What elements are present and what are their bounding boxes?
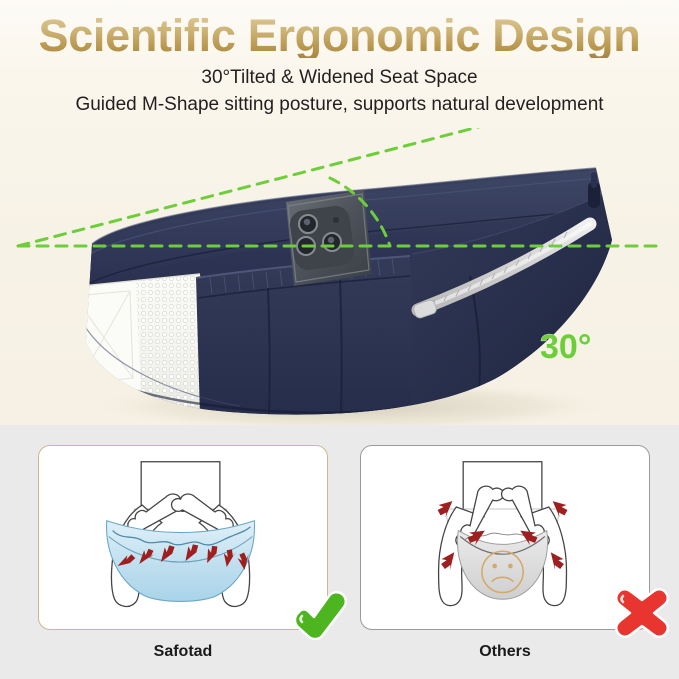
check-icon xyxy=(288,585,350,643)
phone-camera-module xyxy=(288,204,356,272)
angle-value-label: 30° xyxy=(540,328,591,366)
phone-in-pocket xyxy=(286,190,372,286)
subtitle-line-1: 30°Tilted & Widened Seat Space xyxy=(0,66,679,90)
product-photo: 30° xyxy=(0,128,679,425)
subtitle-line-2: Guided M-Shape sitting posture, supports… xyxy=(0,93,679,117)
page-title: Scientific Ergonomic Design xyxy=(0,13,679,58)
safotad-diagram xyxy=(39,446,326,628)
comparison-card-safotad xyxy=(38,445,328,630)
product-infographic: Scientific Ergonomic Design 30°Tilted & … xyxy=(0,0,679,679)
panel-label-safotad: Safotad xyxy=(38,643,328,661)
belt-body xyxy=(58,168,614,425)
comparison-card-others xyxy=(360,445,650,630)
cross-icon xyxy=(612,585,674,643)
hero-section: Scientific Ergonomic Design 30°Tilted & … xyxy=(0,0,679,425)
panel-label-others: Others xyxy=(360,643,650,661)
comparison-section: Safotad Others xyxy=(0,425,679,679)
others-diagram xyxy=(361,446,648,628)
